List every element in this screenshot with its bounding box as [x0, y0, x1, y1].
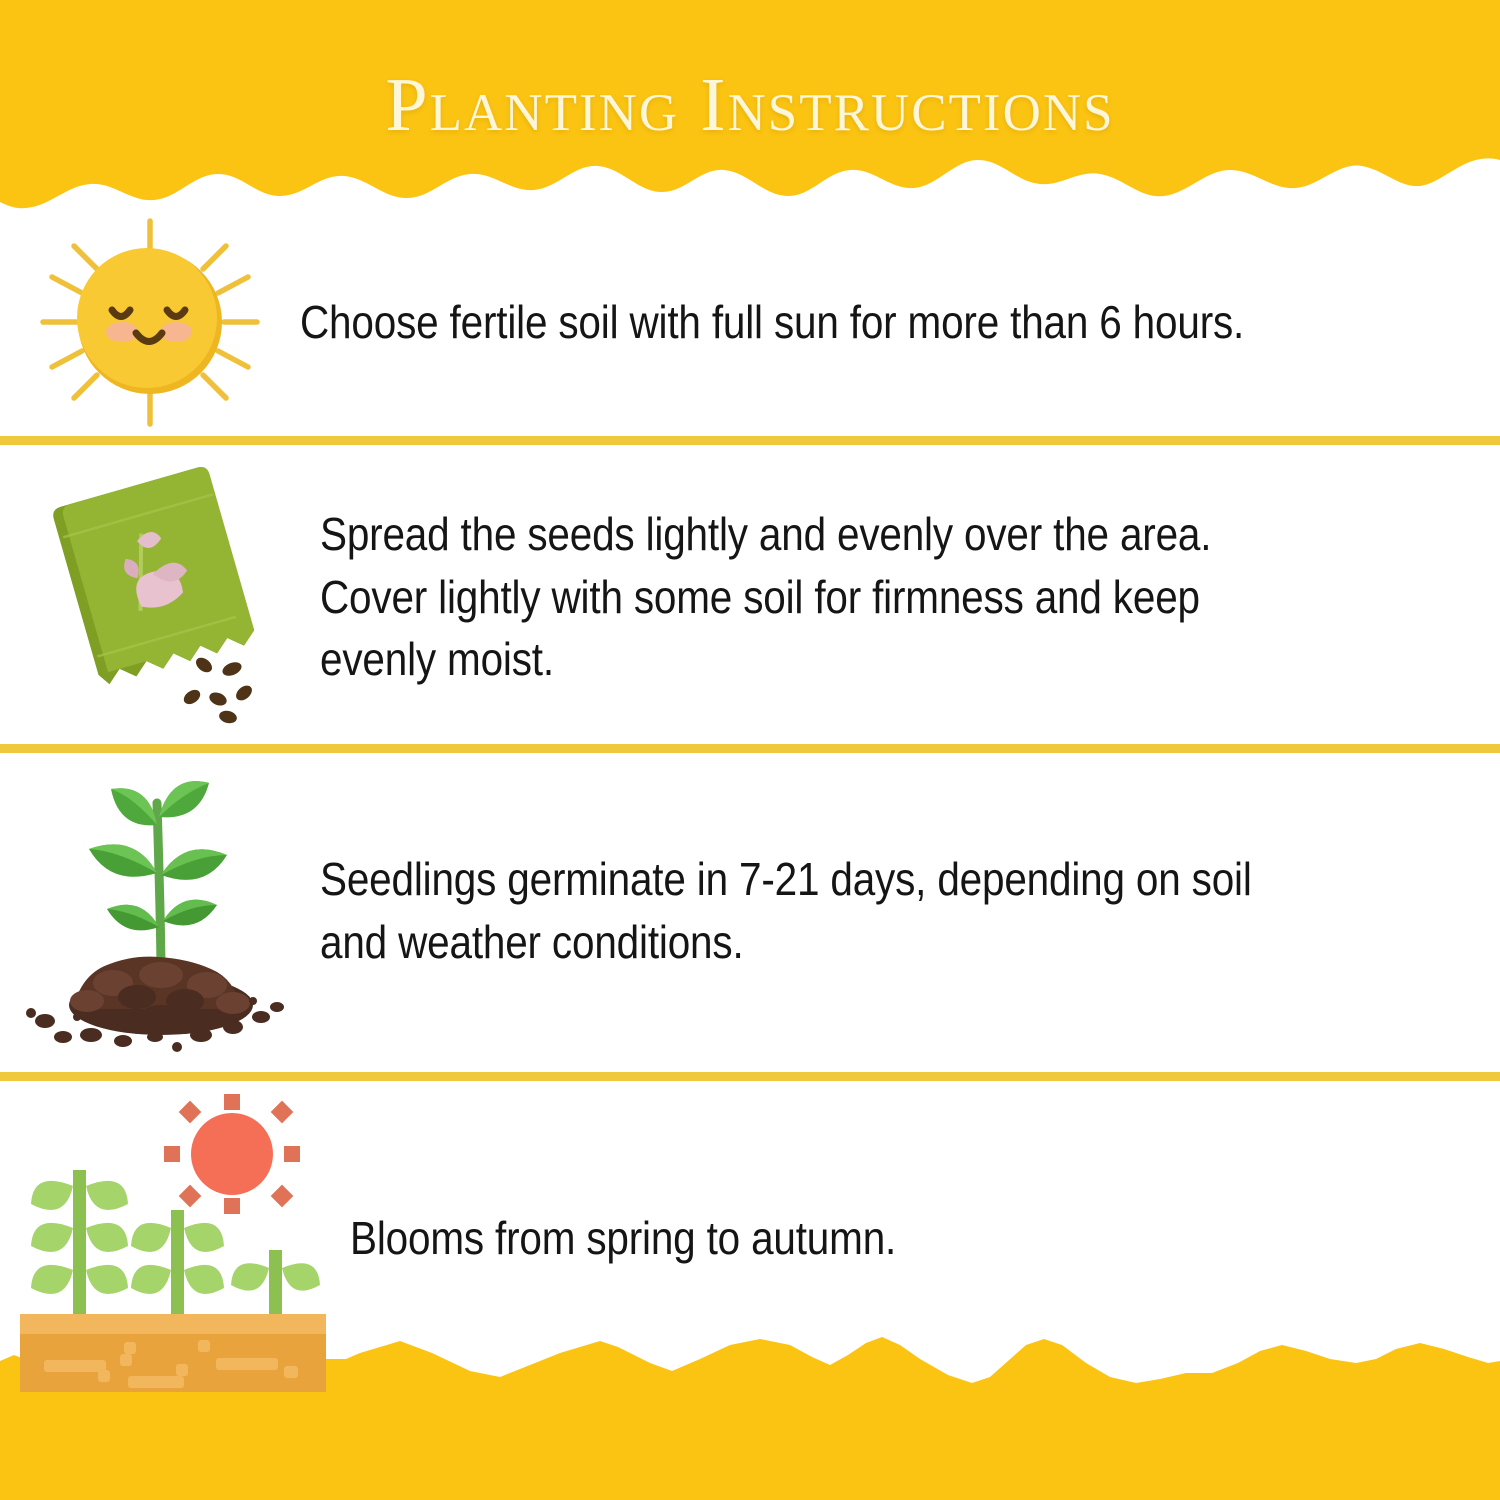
step-3-line-1: Seedlings germinate in 7-21 days, depend…	[320, 848, 1358, 911]
step-2-icon-slot	[0, 448, 320, 742]
step-row-2: Spread the seeds lightly and evenly over…	[0, 448, 1500, 742]
page-title: Planting Instructions	[0, 62, 1500, 149]
step-2-line-1: Spread the seeds lightly and evenly over…	[320, 503, 1358, 566]
step-4-text: Blooms from spring to autumn.	[350, 1207, 1362, 1288]
step-2-line-2: Cover lightly with some soil for firmnes…	[320, 566, 1358, 629]
soil-bed	[20, 1314, 326, 1392]
step-1-line-1: Choose fertile soil with full sun for mo…	[300, 291, 1356, 354]
planting-instructions-poster: Planting Instructions	[0, 0, 1500, 1500]
step-row-4: Blooms from spring to autumn.	[0, 1082, 1500, 1412]
step-3-line-2: and weather conditions.	[320, 911, 1358, 974]
plant-small	[231, 1250, 320, 1320]
step-3-icon-slot	[0, 754, 320, 1068]
step-row-3: Seedlings germinate in 7-21 days, depend…	[0, 754, 1500, 1068]
step-3-text: Seedlings germinate in 7-21 days, depend…	[320, 848, 1358, 973]
plant-medium	[131, 1210, 224, 1320]
step-2-line-3: evenly moist.	[320, 628, 1358, 691]
step-1-icon-slot	[0, 210, 300, 435]
smiling-sun-icon	[28, 215, 273, 430]
section-divider-2	[0, 744, 1500, 753]
step-2-text: Spread the seeds lightly and evenly over…	[320, 499, 1358, 691]
seed-packet-icon	[28, 465, 293, 725]
section-divider-3	[0, 1072, 1500, 1081]
seedling-in-soil-icon	[15, 769, 305, 1054]
step-4-icon-slot	[0, 1082, 350, 1412]
growing-plants-with-sun-icon	[10, 1092, 340, 1412]
step-4-line-1: Blooms from spring to autumn.	[350, 1207, 1362, 1270]
plant-tall	[31, 1170, 128, 1320]
coral-sun-icon	[164, 1094, 300, 1214]
section-divider-1	[0, 436, 1500, 445]
step-1-text: Choose fertile soil with full sun for mo…	[300, 291, 1356, 354]
step-row-1: Choose fertile soil with full sun for mo…	[0, 210, 1500, 435]
